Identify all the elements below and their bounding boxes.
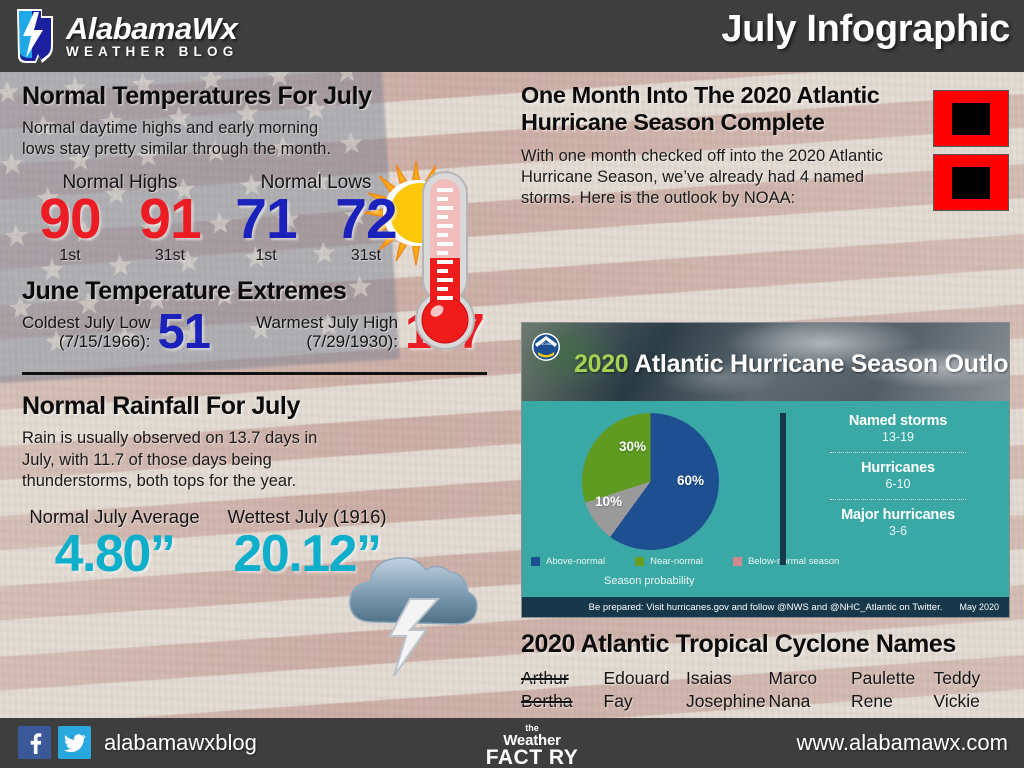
normal-rainfall-body: Rain is usually observed on 13.7 days in… (22, 428, 334, 491)
warmest-high-label-line2: (7/29/1930): (256, 332, 398, 351)
cyclone-name: Isaias (686, 667, 769, 690)
cyclone-name: Paulette (851, 667, 934, 690)
high-first-day: 1st (24, 247, 116, 265)
legend-item-below-normal: Below-normal season (733, 556, 839, 567)
right-column: One Month Into The 2020 Atlantic Hurrica… (521, 82, 1013, 210)
stat-named-storms-range: 13-19 (798, 430, 998, 444)
low-first-cell: 71 1st (220, 192, 312, 265)
hurricane-warning-flags (933, 90, 1009, 211)
brand-name: AlabamaWx (66, 13, 238, 44)
section-divider (22, 372, 487, 375)
stat-separator (830, 499, 966, 500)
cyclone-names-column: MarcoNanaOmar (769, 667, 852, 718)
pie-chart-legend: Above-normal Near-normal Below-normal se… (531, 556, 839, 567)
brand-tagline: WEATHER BLOG (66, 45, 238, 59)
warmest-high-label: Warmest July High (7/29/1930): (256, 313, 398, 351)
warmest-high-label-line1: Warmest July High (256, 313, 398, 332)
noaa-footer-bar: Be prepared: Visit hurricanes.gov and fo… (522, 597, 1009, 618)
cyclone-names-column: ArthurBerthaCristobalDolly (521, 667, 604, 718)
normal-rainfall-section: Normal Rainfall For July Rain is usually… (22, 392, 502, 579)
hurricane-season-body: With one month checked off into the 2020… (521, 146, 921, 210)
wettest-july-group: Wettest July (1916) 20.12” (207, 506, 407, 580)
stat-hurricanes: Hurricanes 6-10 (798, 460, 998, 491)
cyclone-names-column: EdouardFayGonzaloHanna (604, 667, 687, 718)
cyclone-names-section: 2020 Atlantic Tropical Cyclone Names Art… (521, 630, 1016, 718)
hurricane-warning-flag-icon (933, 154, 1009, 211)
coldest-low-label-line2: (7/15/1966): (22, 332, 151, 351)
legend-swatch-above-normal (531, 557, 540, 566)
legend-label-above-normal: Above-normal (546, 556, 605, 567)
legend-label-below-normal: Below-normal season (748, 556, 839, 567)
thermometer-icon (415, 170, 475, 355)
noaa-hero-year: 2020 (574, 350, 628, 378)
hurricane-warning-flag-icon (933, 90, 1009, 147)
low-first-value: 71 (220, 192, 312, 246)
cyclone-names-title: 2020 Atlantic Tropical Cyclone Names (521, 630, 1016, 659)
low-last-cell: 72 31st (320, 192, 412, 265)
legend-swatch-near-normal (635, 557, 644, 566)
high-first-cell: 90 1st (24, 192, 116, 265)
noaa-seal-icon: NOAA (531, 332, 561, 362)
legend-item-near-normal: Near-normal (635, 556, 703, 567)
stat-major-hurricanes-range: 3-6 (798, 524, 998, 538)
brand-logo: AlabamaWx WEATHER BLOG (12, 6, 238, 64)
high-last-day: 31st (124, 247, 216, 265)
wettest-july-value: 20.12” (207, 528, 407, 580)
noaa-chart-area: 60% 30% 10% Above-normal Near-normal Bel… (522, 401, 1009, 597)
noaa-hero-banner: NOAA 2020 Atlantic Hurricane Season Outl… (522, 323, 1009, 401)
svg-text:NOAA: NOAA (540, 341, 552, 346)
cyclone-name: Bertha (521, 690, 604, 713)
legend-item-above-normal: Above-normal (531, 556, 605, 567)
stat-hurricanes-range: 6-10 (798, 477, 998, 491)
noaa-vertical-divider (780, 413, 786, 565)
cyclone-name: Rene (851, 690, 934, 713)
low-first-day: 1st (220, 247, 312, 265)
high-last-cell: 91 31st (124, 192, 216, 265)
normal-temperatures-body: Normal daytime highs and early morning l… (22, 118, 352, 160)
noaa-footer-text: Be prepared: Visit hurricanes.gov and fo… (522, 602, 1009, 613)
cyclone-name: Arthur (521, 667, 604, 690)
noaa-outlook-graphic: NOAA 2020 Atlantic Hurricane Season Outl… (521, 322, 1010, 618)
stat-named-storms: Named storms 13-19 (798, 413, 998, 444)
stat-major-hurricanes-label: Major hurricanes (798, 507, 998, 523)
legend-swatch-below-normal (733, 557, 742, 566)
page-footer: alabamawxblog the Weather FACT RY www.al… (0, 718, 1024, 768)
weather-factory-logo: the Weather FACT RY (452, 724, 612, 768)
cyclone-name: Edouard (604, 667, 687, 690)
normal-average-group: Normal July Average 4.80” (22, 506, 207, 580)
low-last-day: 31st (320, 247, 412, 265)
pie-label-above-normal: 60% (677, 473, 704, 488)
low-last-value: 72 (320, 192, 412, 246)
cyclone-name: Marco (769, 667, 852, 690)
rainfall-values: Normal July Average 4.80” Wettest July (… (22, 506, 442, 580)
footer-handle: alabamawxblog (104, 730, 257, 756)
noaa-forecast-stats: Named storms 13-19 Hurricanes 6-10 Major… (798, 413, 998, 538)
normal-rainfall-title: Normal Rainfall For July (22, 392, 502, 421)
cyclone-names-column: PauletteReneSally (851, 667, 934, 718)
noaa-hero-title-rest: Atlantic Hurricane Season Outlook (628, 350, 1009, 378)
high-first-value: 90 (24, 192, 116, 246)
cyclone-name: Josephine (686, 690, 769, 713)
cyclone-name: Fay (604, 690, 687, 713)
infographic-page: AlabamaWx WEATHER BLOG July Infographic … (0, 0, 1024, 768)
stat-separator (830, 452, 966, 453)
coldest-low-block: Coldest July Low (7/15/1966): 51 (22, 310, 210, 354)
coldest-low-value: 51 (158, 310, 211, 354)
footer-social: alabamawxblog (18, 726, 257, 759)
page-header: AlabamaWx WEATHER BLOG July Infographic (0, 0, 1024, 72)
stat-named-storms-label: Named storms (798, 413, 998, 429)
cyclone-names-grid: ArthurBerthaCristobalDollyEdouardFayGonz… (521, 667, 1016, 718)
cyclone-name: Vickie (934, 690, 1017, 713)
twitter-icon[interactable] (58, 726, 91, 759)
cyclone-names-column: TeddyVickieWilfred (934, 667, 1017, 718)
noaa-footer-date: May 2020 (959, 602, 999, 612)
high-last-value: 91 (124, 192, 216, 246)
facebook-icon[interactable] (18, 726, 51, 759)
pie-label-near-normal: 30% (619, 439, 646, 454)
stat-hurricanes-label: Hurricanes (798, 460, 998, 476)
coldest-low-label-line1: Coldest July Low (22, 313, 151, 332)
coldest-low-label: Coldest July Low (7/15/1966): (22, 313, 151, 351)
normal-highs-group: Normal Highs 90 1st 91 31st (22, 172, 218, 265)
weather-factory-factory: FACT RY (452, 747, 612, 768)
normal-temperatures-title: Normal Temperatures For July (22, 82, 502, 111)
footer-url: www.alabamawx.com (796, 730, 1008, 756)
stat-major-hurricanes: Major hurricanes 3-6 (798, 507, 998, 538)
cyclone-name: Teddy (934, 667, 1017, 690)
alabama-state-lightning-icon (12, 6, 58, 64)
page-title: July Infographic (721, 8, 1010, 51)
normal-temperatures-values: Normal Highs 90 1st 91 31st (22, 172, 422, 265)
pie-label-below-normal: 10% (595, 494, 622, 509)
cyclone-names-column: IsaiasJosephineKyleLaura (686, 667, 769, 718)
brand-text: AlabamaWx WEATHER BLOG (66, 11, 238, 59)
cyclone-name: Nana (769, 690, 852, 713)
legend-label-near-normal: Near-normal (650, 556, 703, 567)
noaa-hero-title: 2020 Atlantic Hurricane Season Outlook (574, 350, 1009, 379)
infographic-body: Normal Temperatures For July Normal dayt… (0, 72, 1024, 718)
hurricane-season-title: One Month Into The 2020 Atlantic Hurrica… (521, 82, 921, 137)
normal-lows-group: Normal Lows 71 1st 72 31st (218, 172, 414, 265)
normal-average-value: 4.80” (22, 528, 207, 580)
season-probability-caption: Season probability (604, 575, 695, 587)
